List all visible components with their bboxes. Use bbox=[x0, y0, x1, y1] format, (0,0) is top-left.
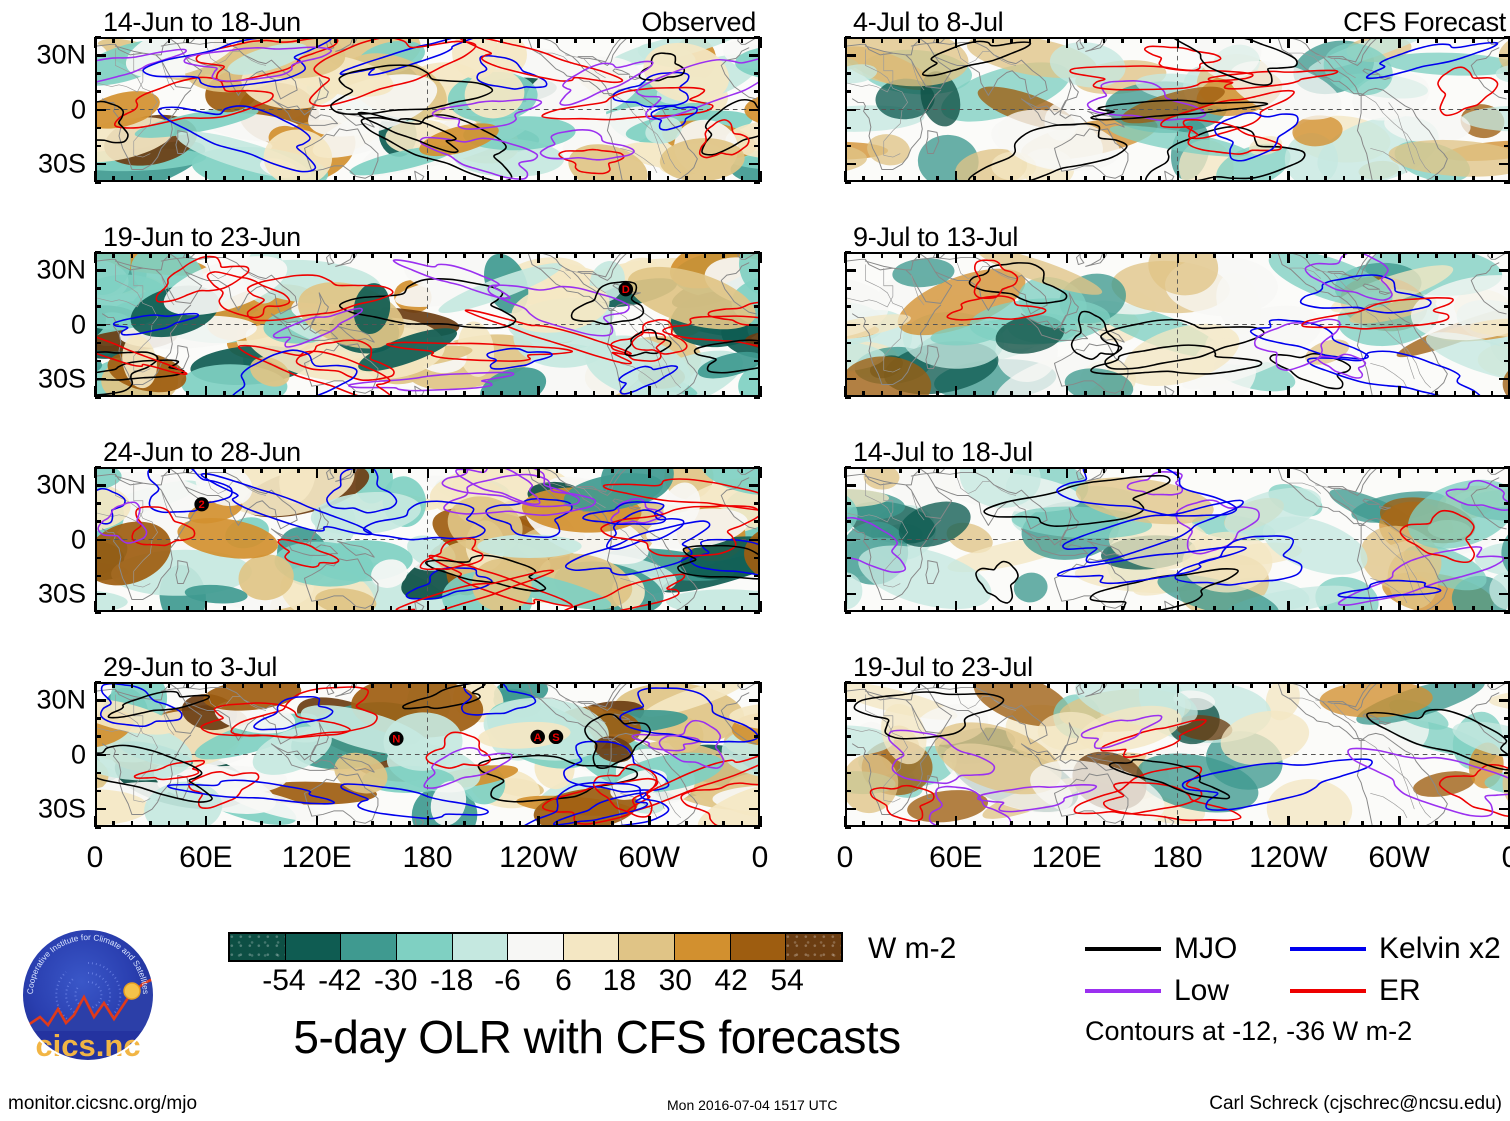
x-axis-label: 60E bbox=[929, 841, 982, 875]
map-canvas-fcst-2 bbox=[845, 252, 1510, 397]
x-axis-label: 120W bbox=[1249, 841, 1327, 875]
map-panel-fcst-1: 4-Jul to 8-JulCFS Forecast bbox=[845, 37, 1510, 182]
y-axis-label: 30N bbox=[36, 40, 86, 71]
y-axis-label: 30N bbox=[36, 255, 86, 286]
logo-wordmark: cics.nc bbox=[35, 1028, 140, 1063]
svg-text:N: N bbox=[392, 734, 400, 746]
colorbar-segment bbox=[786, 934, 841, 960]
legend-label: MJO bbox=[1174, 932, 1237, 966]
panel-title-fcst-1: 4-Jul to 8-Jul bbox=[853, 7, 1003, 38]
legend-label: Low bbox=[1174, 974, 1229, 1008]
storm-label: A bbox=[530, 730, 545, 744]
colorbar-tick: -6 bbox=[494, 964, 521, 998]
footer-author: Carl Schreck (cjschrec@ncsu.edu) bbox=[1209, 1093, 1502, 1115]
legend-row: LowER bbox=[1085, 970, 1495, 1012]
y-axis-label: 0 bbox=[71, 309, 86, 340]
figure-title: 5-day OLR with CFS forecasts bbox=[247, 1010, 947, 1064]
colorbar-segment bbox=[508, 934, 564, 960]
map-panel-obs-1: 14-Jun to 18-JunObserved30N030S bbox=[95, 37, 760, 182]
x-axis-label: 60W bbox=[1368, 841, 1430, 875]
colorbar-tick: -30 bbox=[374, 964, 417, 998]
legend-swatch bbox=[1290, 989, 1366, 993]
colorbar-tick: 18 bbox=[603, 964, 636, 998]
storm-label: D bbox=[619, 282, 634, 296]
legend-swatch bbox=[1290, 947, 1366, 951]
column-header-forecast: CFS Forecast bbox=[1343, 7, 1506, 38]
colorbar-tick: -54 bbox=[262, 964, 305, 998]
legend-item-low: Low bbox=[1085, 974, 1290, 1008]
x-axis-label: 120E bbox=[282, 841, 352, 875]
x-axis-label: 0 bbox=[1502, 841, 1510, 875]
panel-title-fcst-2: 9-Jul to 13-Jul bbox=[853, 222, 1018, 253]
y-axis-label: 30N bbox=[36, 470, 86, 501]
colorbar-tick: -18 bbox=[430, 964, 473, 998]
footer-url[interactable]: monitor.cicsnc.org/mjo bbox=[8, 1093, 197, 1115]
panel-title-obs-2: 19-Jun to 23-Jun bbox=[103, 222, 301, 253]
panel-title-fcst-3: 14-Jul to 18-Jul bbox=[853, 437, 1033, 468]
colorbar-segment bbox=[675, 934, 731, 960]
colorbar-tick: 30 bbox=[659, 964, 692, 998]
legend-swatch bbox=[1085, 947, 1161, 951]
column-header-observed: Observed bbox=[641, 7, 756, 38]
colorbar-tick: -42 bbox=[318, 964, 361, 998]
map-panel-fcst-3: 14-Jul to 18-Jul bbox=[845, 467, 1510, 612]
y-axis-label: 0 bbox=[71, 739, 86, 770]
svg-text:D: D bbox=[622, 284, 630, 296]
x-axis-label: 180 bbox=[402, 841, 452, 875]
colorbar-tick-labels: -54-42-30-18-6618304254 bbox=[228, 964, 843, 1000]
panel-title-obs-3: 24-Jun to 28-Jun bbox=[103, 437, 301, 468]
cics-nc-logo: cics.nc Cooperative Institute for Climat… bbox=[18, 925, 158, 1065]
x-axis-label: 60E bbox=[179, 841, 232, 875]
figure-footer-block: cics.nc Cooperative Institute for Climat… bbox=[0, 880, 1510, 1121]
colorbar-strip bbox=[228, 932, 843, 962]
y-axis-label: 30S bbox=[38, 148, 86, 179]
legend-item-mjo: MJO bbox=[1085, 932, 1290, 966]
y-axis-label: 30S bbox=[38, 578, 86, 609]
y-axis-label: 30N bbox=[36, 685, 86, 716]
y-axis-label: 0 bbox=[71, 94, 86, 125]
legend-label: ER bbox=[1379, 974, 1421, 1008]
contour-note: Contours at -12, -36 W m-2 bbox=[1085, 1016, 1412, 1047]
colorbar-segment bbox=[230, 934, 286, 960]
x-axis-label: 60W bbox=[618, 841, 680, 875]
x-axis-label: 0 bbox=[837, 841, 854, 875]
colorbar-segment bbox=[619, 934, 675, 960]
map-canvas-fcst-3 bbox=[845, 467, 1510, 612]
map-panel-obs-2: 19-Jun to 23-JunD30N030S bbox=[95, 252, 760, 397]
map-panel-obs-4: 29-Jun to 3-JulNAS30N030S bbox=[95, 682, 760, 827]
x-axis-label: 120E bbox=[1032, 841, 1102, 875]
map-panel-obs-3: 24-Jun to 28-Jun230N030S bbox=[95, 467, 760, 612]
x-axis-label: 120W bbox=[499, 841, 577, 875]
legend-swatch bbox=[1085, 989, 1161, 993]
svg-text:2: 2 bbox=[199, 499, 205, 511]
colorbar: -54-42-30-18-6618304254 bbox=[228, 932, 843, 1000]
legend-item-er: ER bbox=[1290, 974, 1495, 1008]
panel-grid: 14-Jun to 18-JunObserved30N030S4-Jul to … bbox=[0, 0, 1510, 880]
x-axis-forecast: 060E120E180120W60W0 bbox=[845, 841, 1510, 881]
x-axis-label: 0 bbox=[752, 841, 769, 875]
legend-label: Kelvin x2 bbox=[1379, 932, 1501, 966]
storm-label: N bbox=[389, 732, 404, 746]
map-panel-fcst-2: 9-Jul to 13-Jul bbox=[845, 252, 1510, 397]
legend-item-kelvin-x2: Kelvin x2 bbox=[1290, 932, 1495, 966]
map-canvas-obs-3: 2 bbox=[95, 467, 760, 612]
panel-title-fcst-4: 19-Jul to 23-Jul bbox=[853, 652, 1033, 683]
storm-label: S bbox=[549, 730, 564, 744]
map-canvas-fcst-1 bbox=[845, 37, 1510, 182]
contour-legend: MJOKelvin x2LowER bbox=[1085, 928, 1495, 1012]
footer-timestamp: Mon 2016-07-04 1517 UTC bbox=[667, 1097, 837, 1113]
colorbar-tick: 54 bbox=[770, 964, 803, 998]
panel-title-obs-1: 14-Jun to 18-Jun bbox=[103, 7, 301, 38]
colorbar-tick: 6 bbox=[555, 964, 572, 998]
colorbar-segment bbox=[564, 934, 620, 960]
colorbar-tick: 42 bbox=[714, 964, 747, 998]
map-canvas-obs-4: NAS bbox=[95, 682, 760, 827]
svg-text:A: A bbox=[534, 732, 542, 744]
x-axis-label: 180 bbox=[1152, 841, 1202, 875]
y-axis-label: 0 bbox=[71, 524, 86, 555]
x-axis-label: 0 bbox=[87, 841, 104, 875]
map-panel-fcst-4: 19-Jul to 23-Jul bbox=[845, 682, 1510, 827]
colorbar-segment bbox=[341, 934, 397, 960]
svg-text:S: S bbox=[552, 732, 560, 744]
panel-title-obs-4: 29-Jun to 3-Jul bbox=[103, 652, 277, 683]
y-axis-label: 30S bbox=[38, 363, 86, 394]
map-canvas-obs-1 bbox=[95, 37, 760, 182]
colorbar-segment bbox=[453, 934, 509, 960]
y-axis-label: 30S bbox=[38, 793, 86, 824]
storm-label: 2 bbox=[194, 497, 209, 511]
colorbar-segment bbox=[286, 934, 342, 960]
map-canvas-fcst-4 bbox=[845, 682, 1510, 827]
map-canvas-obs-2: D bbox=[95, 252, 760, 397]
colorbar-segment bbox=[731, 934, 787, 960]
x-axis-observed: 060E120E180120W60W0 bbox=[95, 841, 760, 881]
colorbar-segment bbox=[397, 934, 453, 960]
colorbar-unit-label: W m-2 bbox=[868, 932, 956, 966]
legend-row: MJOKelvin x2 bbox=[1085, 928, 1495, 970]
